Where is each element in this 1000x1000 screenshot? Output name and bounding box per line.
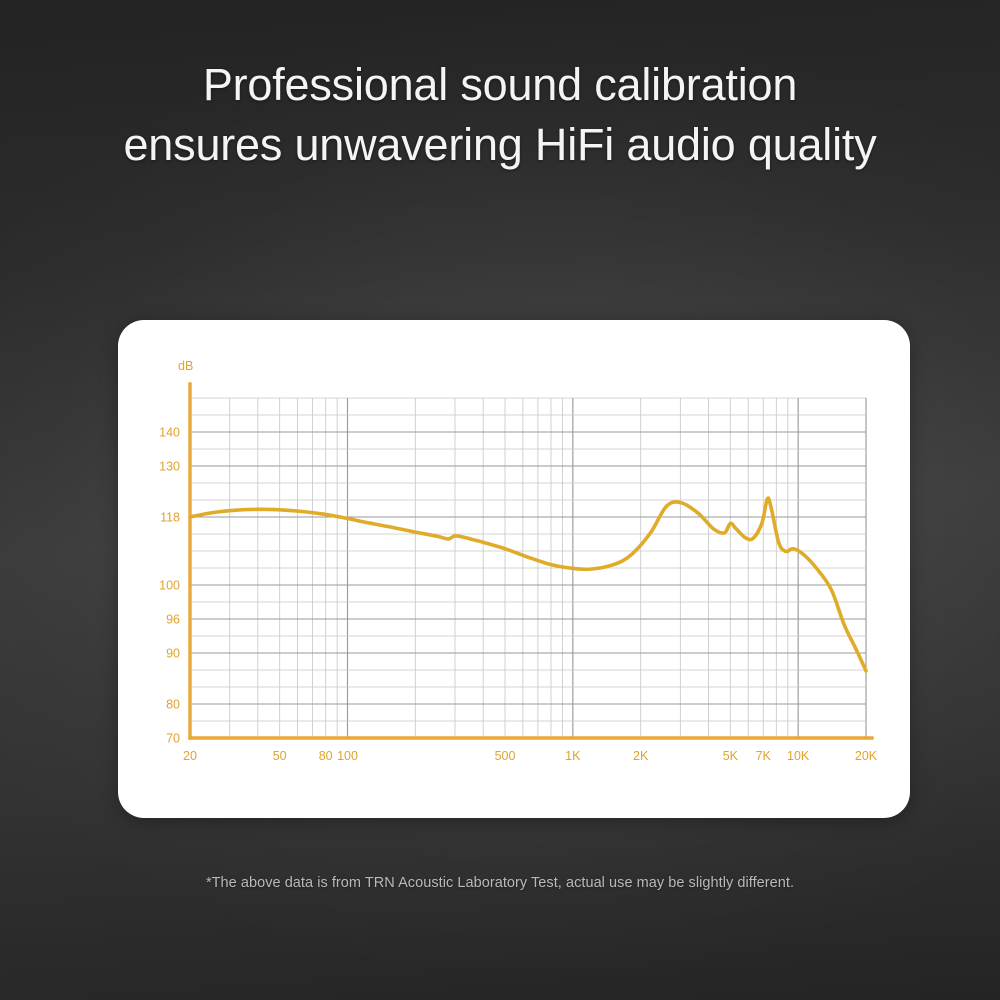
y-tick-label: 118 [160,511,180,525]
x-tick-label: 7K [756,749,772,763]
y-tick-label: 70 [166,732,180,746]
y-axis-title: dB [178,359,193,373]
headline-line-2: ensures unwavering HiFi audio quality [0,115,1000,175]
x-tick-label: 10K [787,749,810,763]
frequency-response-card: 14013011810096908070 2050801005001K2K5K7… [118,320,910,818]
x-axis-tick-labels: 2050801005001K2K5K7K10K20K [183,749,878,763]
x-tick-label: 100 [337,749,358,763]
x-tick-label: 1K [565,749,581,763]
page-title: Professional sound calibration ensures u… [0,55,1000,175]
headline-line-1: Professional sound calibration [0,55,1000,115]
y-tick-label: 140 [159,426,180,440]
x-tick-label: 80 [319,749,333,763]
x-tick-label: 500 [495,749,516,763]
chart-axes [190,384,872,738]
x-tick-label: 5K [723,749,739,763]
frequency-response-chart: 14013011810096908070 2050801005001K2K5K7… [118,320,910,818]
response-curve [190,498,866,671]
y-tick-label: 90 [166,647,180,661]
y-axis-tick-labels: 14013011810096908070 [159,426,180,746]
y-tick-label: 96 [166,613,180,627]
y-tick-label: 130 [159,460,180,474]
y-tick-label: 100 [159,579,180,593]
x-tick-label: 50 [273,749,287,763]
y-tick-label: 80 [166,698,180,712]
grid-horizontal [190,398,866,738]
x-tick-label: 20K [855,749,878,763]
x-tick-label: 2K [633,749,649,763]
chart-footnote: *The above data is from TRN Acoustic Lab… [0,875,1000,891]
x-tick-label: 20 [183,749,197,763]
page-root: Professional sound calibration ensures u… [0,0,1000,1000]
chart-canvas: 14013011810096908070 2050801005001K2K5K7… [118,320,910,818]
